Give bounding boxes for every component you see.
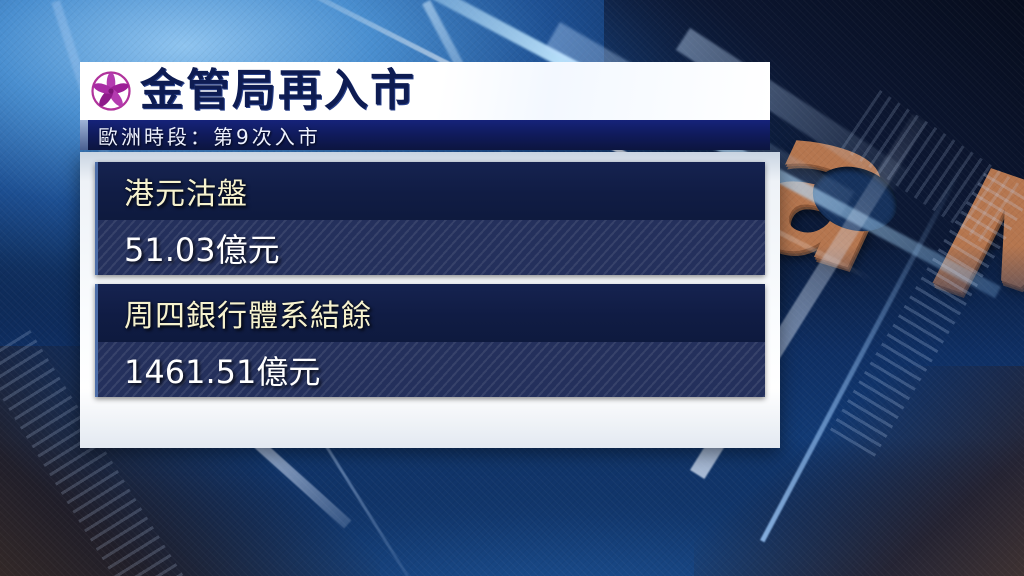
content-panel-inner: 港元沽盤 51.03億元 周四銀行體系結餘 1461.51億元 (95, 162, 765, 406)
subtitle-accent-marker (80, 120, 88, 150)
headline-header: 金管局再入市 歐洲時段：第9次入市 (80, 62, 770, 150)
page-title: 金管局再入市 (140, 69, 416, 113)
data-row-value: 51.03億元 (124, 225, 280, 271)
data-row-label-bar: 周四銀行體系結餘 (98, 284, 765, 342)
broadcast-news-graphic: a M 港元沽盤 51.03億元 周四銀行體系結餘 (0, 0, 1024, 576)
bauhinia-flower-icon (88, 68, 134, 114)
content-panel: 港元沽盤 51.03億元 周四銀行體系結餘 1461.51億元 (80, 152, 780, 448)
data-row-label-bar: 港元沽盤 (98, 162, 765, 220)
headline-subtitle-bar: 歐洲時段：第9次入市 (80, 120, 770, 150)
data-row: 港元沽盤 51.03億元 (95, 162, 765, 275)
data-row-value-bar: 51.03億元 (98, 220, 765, 275)
data-row: 周四銀行體系結餘 1461.51億元 (95, 284, 765, 397)
data-row-label: 周四銀行體系結餘 (124, 291, 372, 335)
data-row-value: 1461.51億元 (124, 347, 320, 393)
page-subtitle: 歐洲時段：第9次入市 (98, 121, 321, 150)
data-row-label: 港元沽盤 (124, 169, 248, 213)
headline-title-bar: 金管局再入市 (80, 62, 770, 120)
data-row-value-bar: 1461.51億元 (98, 342, 765, 397)
